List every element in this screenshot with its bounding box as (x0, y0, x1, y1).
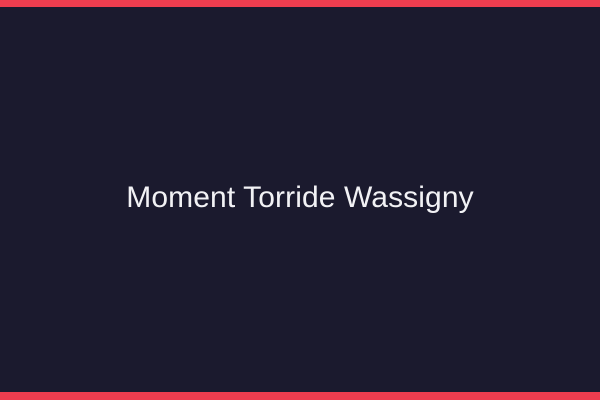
caption-container: Moment Torride Wassigny (0, 0, 600, 400)
bottom-accent-rule (0, 392, 600, 400)
placeholder-banner: Moment Torride Wassigny (0, 0, 600, 400)
banner-title: Moment Torride Wassigny (126, 181, 473, 216)
